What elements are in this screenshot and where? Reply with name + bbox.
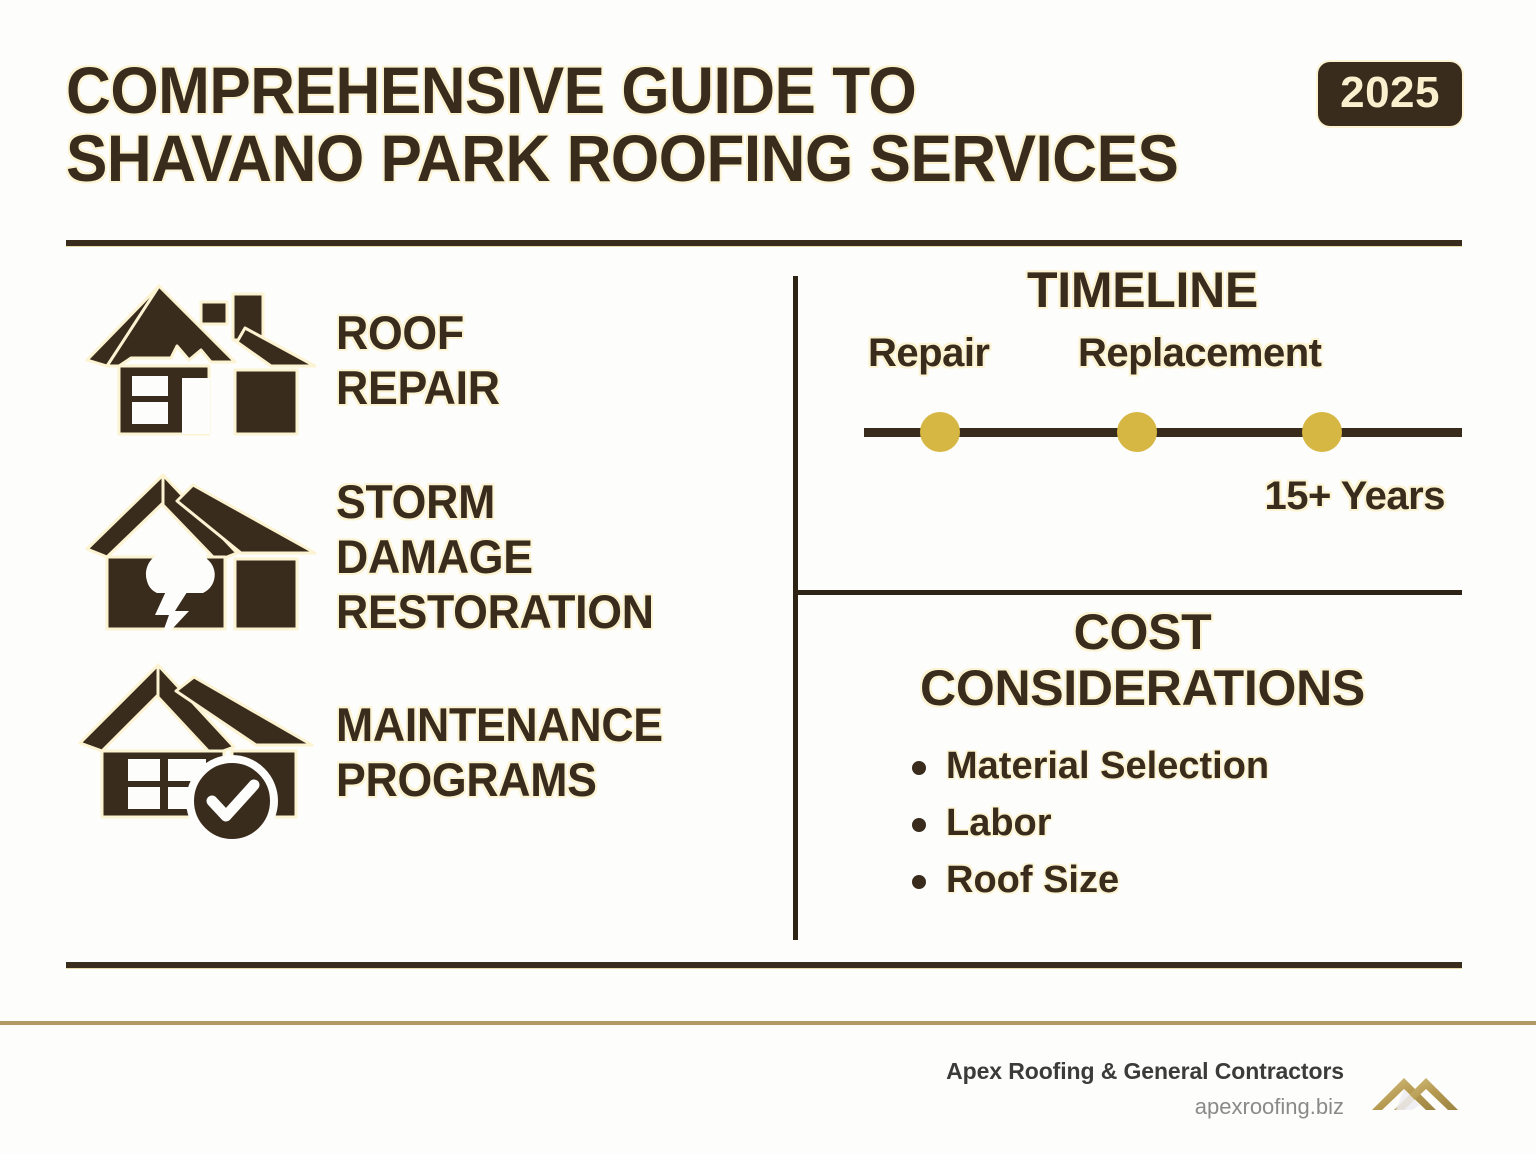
service-label-maintenance: MAINTENANCE PROGRAMS — [336, 697, 663, 807]
cost-heading-line-1: COST — [820, 604, 1465, 660]
services-list: ROOF REPAIR — [66, 262, 786, 850]
footer-company-name: Apex Roofing & General Contractors — [946, 1056, 1344, 1086]
footer-gold-rule — [0, 1021, 1536, 1025]
year-badge: 2025 — [1318, 62, 1462, 126]
storm-house-icon — [66, 471, 336, 641]
year-badge-label: 2025 — [1340, 71, 1440, 115]
cost-item: Labor — [820, 795, 1465, 852]
service-label-line: REPAIR — [336, 360, 500, 415]
cost-items-list: Material Selection Labor Roof Size — [820, 738, 1465, 909]
cost-item: Roof Size — [820, 852, 1465, 909]
timeline-heading: TIMELINE — [820, 262, 1465, 318]
service-label-line: DAMAGE — [336, 529, 654, 584]
service-label-roof-repair: ROOF REPAIR — [336, 305, 500, 415]
infographic-canvas: COMPREHENSIVE GUIDE TO SHAVANO PARK ROOF… — [0, 0, 1536, 1154]
service-label-line: STORM — [336, 474, 654, 529]
timeline-marker-1 — [920, 412, 960, 452]
timeline-label-repair: Repair — [868, 330, 990, 376]
service-item-storm-damage: STORM DAMAGE RESTORATION — [66, 458, 786, 654]
cost-item: Material Selection — [820, 738, 1465, 795]
service-label-line: PROGRAMS — [336, 752, 663, 807]
service-label-line: RESTORATION — [336, 584, 654, 639]
footer: Apex Roofing & General Contractors apexr… — [0, 1040, 1536, 1154]
footer-website[interactable]: apexroofing.biz — [946, 1093, 1344, 1121]
roof-peaks-logo — [1368, 1070, 1462, 1119]
service-label-storm-damage: STORM DAMAGE RESTORATION — [336, 474, 654, 639]
timeline-footnote: 15+ Years — [820, 472, 1465, 520]
divider-vertical — [793, 276, 798, 940]
timeline-marker-2 — [1117, 412, 1157, 452]
timeline-marker-3 — [1302, 412, 1342, 452]
service-label-line: ROOF — [336, 305, 500, 360]
title-line-1: COMPREHENSIVE GUIDE TO — [66, 56, 1288, 124]
timeline-panel: TIMELINE Repair Replacement 15+ Years — [820, 262, 1465, 562]
title-line-2: SHAVANO PARK ROOFING SERVICES — [66, 124, 1288, 192]
right-column: TIMELINE Repair Replacement 15+ Years CO… — [820, 262, 1465, 909]
timeline-labels: Repair Replacement — [820, 330, 1465, 382]
timeline-track — [820, 410, 1465, 454]
service-item-roof-repair: ROOF REPAIR — [66, 262, 786, 458]
service-item-maintenance: MAINTENANCE PROGRAMS — [66, 654, 786, 850]
cost-heading-line-2: CONSIDERATIONS — [820, 660, 1465, 716]
house-check-icon — [66, 659, 336, 845]
timeline-label-replacement: Replacement — [1078, 330, 1321, 376]
cost-panel: COST CONSIDERATIONS Material Selection L… — [820, 604, 1465, 909]
damaged-house-icon — [66, 280, 336, 440]
divider-bottom — [66, 962, 1462, 968]
divider-top — [66, 240, 1462, 246]
service-label-line: MAINTENANCE — [336, 697, 663, 752]
page-title: COMPREHENSIVE GUIDE TO SHAVANO PARK ROOF… — [66, 56, 1366, 192]
